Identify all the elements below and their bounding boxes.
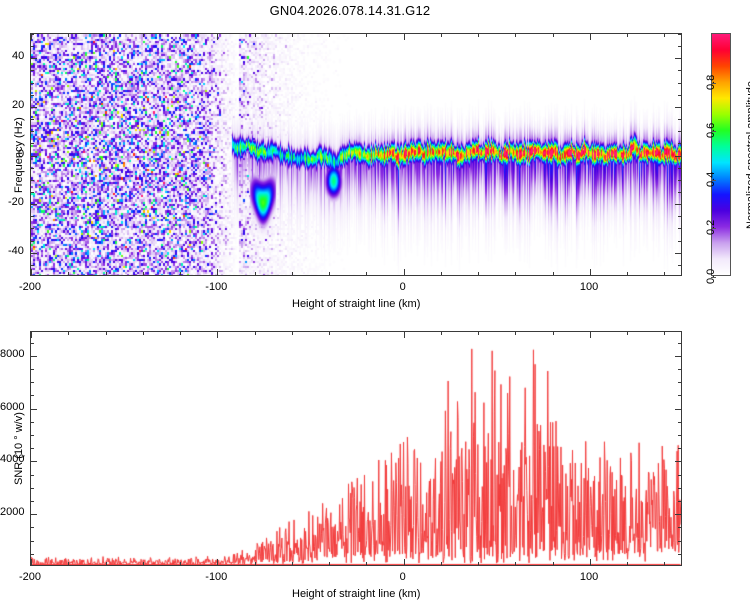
y-tick-label: -40 <box>8 245 24 257</box>
x-tick <box>404 559 405 566</box>
y-tick-right <box>678 369 682 370</box>
y-tick <box>30 204 37 205</box>
x-tick-top <box>553 33 554 37</box>
x-tick-label: 100 <box>580 571 598 583</box>
x-tick <box>329 272 330 276</box>
x-tick-top <box>404 331 405 338</box>
x-tick-top <box>255 33 256 37</box>
colorbar-tick-label: 0.0 <box>705 269 717 284</box>
y-tick-right <box>678 265 682 266</box>
y-tick-right <box>678 46 682 47</box>
y-tick <box>30 216 34 217</box>
x-tick-top <box>553 331 554 335</box>
y-tick <box>30 58 37 59</box>
x-tick-top <box>106 33 107 37</box>
y-tick <box>30 435 34 436</box>
y-tick-right <box>675 204 682 205</box>
y-tick <box>30 156 37 157</box>
colorbar-label: Normalized spectral amplitude <box>745 81 750 229</box>
snr-trace <box>31 332 681 565</box>
x-tick <box>217 559 218 566</box>
x-tick-top <box>292 33 293 37</box>
x-tick-top <box>590 331 591 338</box>
x-tick-top <box>143 331 144 335</box>
y-tick-right <box>678 435 682 436</box>
x-tick <box>515 562 516 566</box>
y-tick-right <box>675 409 682 410</box>
colorbar-gradient <box>712 34 730 275</box>
x-tick-label: -100 <box>205 281 227 293</box>
x-tick-top <box>441 33 442 37</box>
y-tick-right <box>678 131 682 132</box>
colorbar-tick-label: 0.4 <box>705 172 717 187</box>
y-tick-right <box>678 241 682 242</box>
y-tick <box>30 119 34 120</box>
x-tick-top <box>329 331 330 335</box>
figure-title: GN04.2026.078.14.31.G12 <box>0 3 700 18</box>
y-tick <box>30 409 37 410</box>
x-tick-top <box>329 33 330 37</box>
y-tick <box>30 253 37 254</box>
y-tick <box>30 192 34 193</box>
x-tick <box>143 562 144 566</box>
x-tick-top <box>627 331 628 335</box>
x-tick-top <box>31 331 32 338</box>
y-tick-right <box>678 34 682 35</box>
x-tick-top <box>217 33 218 40</box>
x-tick <box>366 272 367 276</box>
spectrogram-ylabel: Frequency (Hz) <box>13 117 25 193</box>
y-tick-label: 40 <box>12 50 24 62</box>
y-tick <box>30 46 34 47</box>
y-tick-right <box>678 488 682 489</box>
x-tick <box>255 272 256 276</box>
x-tick-top <box>478 33 479 37</box>
spectrogram-panel <box>30 33 682 276</box>
y-tick <box>30 382 34 383</box>
x-tick-label: -100 <box>205 571 227 583</box>
x-tick-label: 100 <box>580 281 598 293</box>
y-tick <box>30 422 34 423</box>
y-tick <box>30 554 34 555</box>
y-tick <box>30 488 34 489</box>
x-tick <box>68 272 69 276</box>
x-tick <box>180 272 181 276</box>
x-tick <box>441 562 442 566</box>
x-tick-top <box>441 331 442 335</box>
colorbar <box>711 33 731 276</box>
x-tick <box>31 559 32 566</box>
y-tick <box>30 143 34 144</box>
y-tick <box>30 180 34 181</box>
x-tick-top <box>143 33 144 37</box>
y-tick-right <box>678 422 682 423</box>
y-tick <box>30 131 34 132</box>
y-tick-right <box>678 180 682 181</box>
x-tick <box>31 269 32 276</box>
x-tick <box>478 272 479 276</box>
y-tick-right <box>678 395 682 396</box>
x-tick <box>292 272 293 276</box>
y-tick-label: -20 <box>8 196 24 208</box>
y-tick <box>30 168 34 169</box>
x-tick <box>404 269 405 276</box>
y-tick <box>30 265 34 266</box>
y-tick <box>30 356 37 357</box>
x-tick <box>180 562 181 566</box>
x-tick-label: -200 <box>19 571 41 583</box>
x-tick <box>68 562 69 566</box>
x-tick-top <box>217 331 218 338</box>
y-tick-right <box>678 143 682 144</box>
y-tick <box>30 514 37 515</box>
y-tick <box>30 228 34 229</box>
y-tick <box>30 527 34 528</box>
x-tick <box>590 559 591 566</box>
x-tick-top <box>590 33 591 40</box>
x-tick-top <box>68 33 69 37</box>
spectrogram-xlabel: Height of straight line (km) <box>292 298 420 310</box>
y-tick <box>30 448 34 449</box>
x-tick-top <box>515 331 516 335</box>
x-tick-label: 0 <box>400 571 406 583</box>
y-tick-label: 2000 <box>0 506 24 518</box>
x-tick-top <box>292 331 293 335</box>
x-tick-top <box>106 331 107 335</box>
x-tick <box>366 562 367 566</box>
x-tick <box>255 562 256 566</box>
snr-ylabel: SNR (10 ° w/v) <box>13 412 25 485</box>
colorbar-tick-label: 0.2 <box>705 220 717 235</box>
x-tick <box>292 562 293 566</box>
y-tick-right <box>678 541 682 542</box>
x-tick <box>664 562 665 566</box>
y-tick <box>30 241 34 242</box>
y-tick-right <box>678 95 682 96</box>
y-tick-right <box>678 448 682 449</box>
y-tick-right <box>675 514 682 515</box>
y-tick-right <box>675 156 682 157</box>
figure-root: GN04.2026.078.14.31.G12 -200-10001004020… <box>0 0 750 600</box>
y-tick-label: 6000 <box>0 401 24 413</box>
x-tick-top <box>366 331 367 335</box>
y-tick-right <box>678 216 682 217</box>
y-tick <box>30 461 37 462</box>
x-tick <box>106 272 107 276</box>
x-tick-top <box>366 33 367 37</box>
y-tick <box>30 95 34 96</box>
x-tick <box>515 272 516 276</box>
x-tick-top <box>404 33 405 40</box>
y-tick-label: 20 <box>12 99 24 111</box>
y-tick-right <box>675 356 682 357</box>
y-tick <box>30 343 34 344</box>
colorbar-tick-label: 0.6 <box>705 123 717 138</box>
x-tick <box>553 562 554 566</box>
snr-panel <box>30 331 682 566</box>
x-tick <box>627 562 628 566</box>
x-tick-top <box>664 33 665 37</box>
x-tick <box>590 269 591 276</box>
y-tick <box>30 541 34 542</box>
y-tick-right <box>678 554 682 555</box>
spectrogram-image <box>31 34 681 275</box>
y-tick-right <box>678 228 682 229</box>
x-tick-label: 0 <box>400 281 406 293</box>
y-tick-right <box>675 58 682 59</box>
x-tick <box>143 272 144 276</box>
y-tick <box>30 83 34 84</box>
x-tick-top <box>180 33 181 37</box>
x-tick-top <box>255 331 256 335</box>
x-tick-top <box>180 331 181 335</box>
y-tick-right <box>675 107 682 108</box>
y-tick-right <box>675 461 682 462</box>
x-tick-top <box>627 33 628 37</box>
y-tick-right <box>675 253 682 254</box>
x-tick-top <box>515 33 516 37</box>
y-tick-right <box>678 382 682 383</box>
y-tick-right <box>678 168 682 169</box>
y-tick <box>30 475 34 476</box>
y-tick <box>30 107 37 108</box>
y-tick <box>30 70 34 71</box>
y-tick <box>30 395 34 396</box>
x-tick <box>627 272 628 276</box>
y-tick-right <box>678 527 682 528</box>
y-tick-right <box>678 119 682 120</box>
y-tick-label: 8000 <box>0 348 24 360</box>
y-tick <box>30 34 34 35</box>
x-tick-label: -200 <box>19 281 41 293</box>
x-tick <box>217 269 218 276</box>
y-tick-right <box>678 343 682 344</box>
x-tick-top <box>68 331 69 335</box>
y-tick <box>30 501 34 502</box>
x-tick-top <box>478 331 479 335</box>
x-tick <box>106 562 107 566</box>
x-tick-top <box>664 331 665 335</box>
x-tick <box>553 272 554 276</box>
snr-xlabel: Height of straight line (km) <box>292 588 420 600</box>
y-tick-right <box>678 501 682 502</box>
y-tick-right <box>678 475 682 476</box>
x-tick <box>441 272 442 276</box>
colorbar-tick-label: 0.8 <box>705 75 717 90</box>
x-tick <box>329 562 330 566</box>
y-tick-right <box>678 83 682 84</box>
x-tick <box>478 562 479 566</box>
y-tick-right <box>678 70 682 71</box>
y-tick <box>30 369 34 370</box>
y-tick-right <box>678 192 682 193</box>
x-tick <box>664 272 665 276</box>
